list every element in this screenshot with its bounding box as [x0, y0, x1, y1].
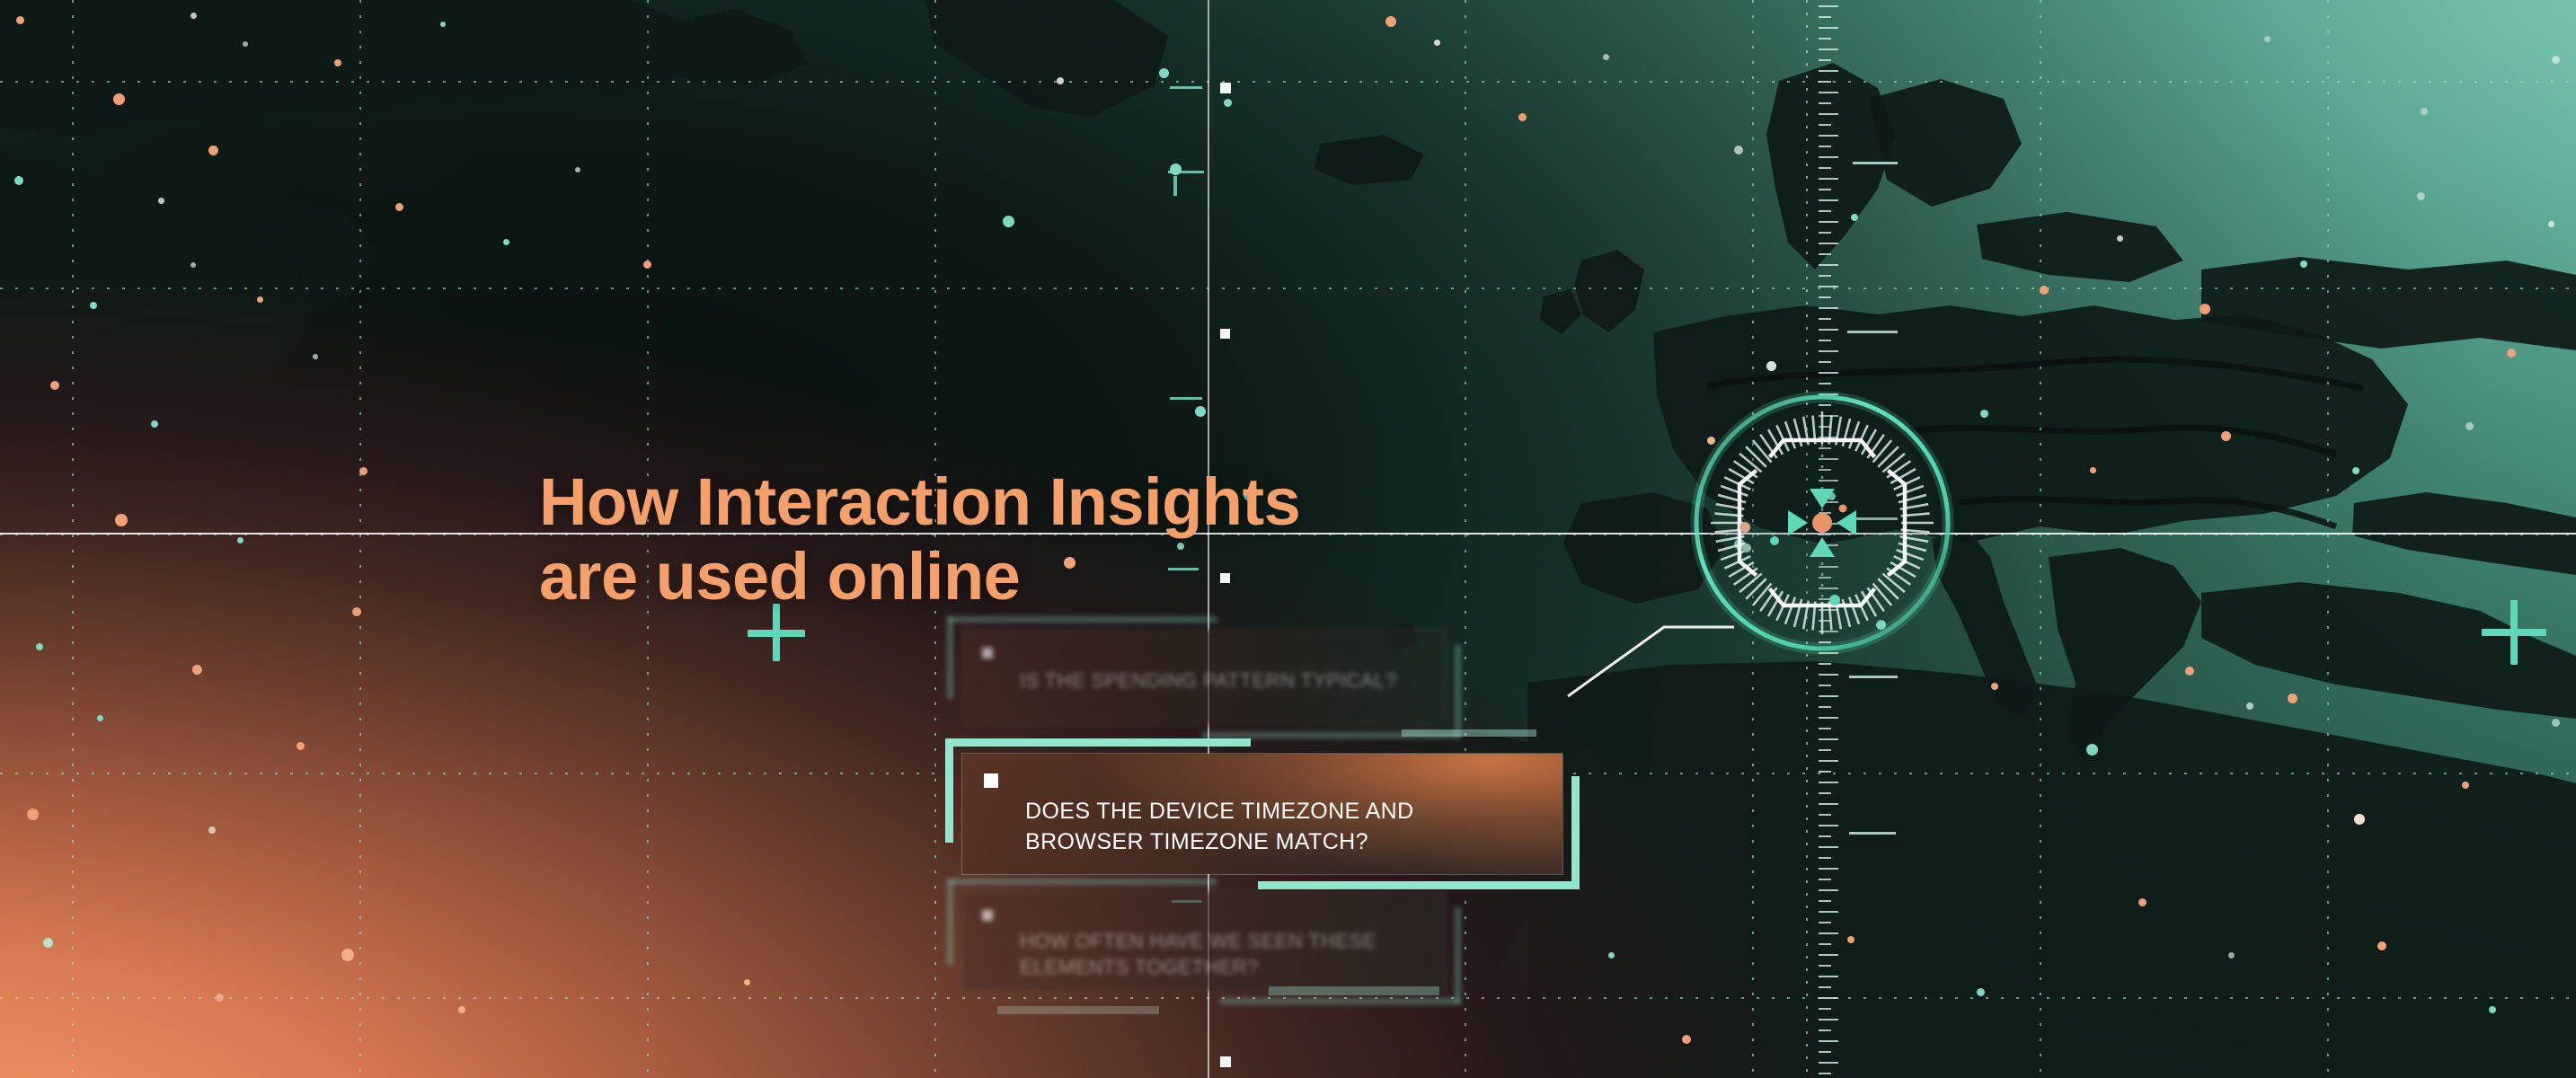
scan-marker-square: [1220, 329, 1230, 339]
card-bracket-right: [1455, 645, 1461, 738]
square-bullet: [984, 773, 998, 788]
card-surface: HOW OFTEN HAVE WE SEEN THESE ELEMENTS TO…: [961, 891, 1447, 992]
card-bracket-top-left: [947, 879, 1217, 885]
card-elements-together[interactable]: HOW OFTEN HAVE WE SEEN THESE ELEMENTS TO…: [961, 891, 1447, 992]
card-spending-pattern[interactable]: IS THE SPENDING PATTERN TYPICAL?: [961, 629, 1447, 726]
card-bracket-left: [947, 616, 953, 699]
card-bracket-bottom-right: [1220, 998, 1461, 1004]
hud-dash-accent: [1269, 986, 1439, 995]
hud-dash-accent: [997, 1006, 1159, 1014]
scan-marker-square: [1220, 83, 1231, 93]
scan-marker-square: [1220, 1056, 1231, 1067]
card-label: IS THE SPENDING PATTERN TYPICAL?: [1020, 667, 1424, 694]
page-title: How Interaction Insights are used online: [539, 465, 1300, 614]
card-bracket-left: [945, 738, 953, 843]
crosshair-right: [2482, 600, 2546, 665]
card-surface: IS THE SPENDING PATTERN TYPICAL?: [961, 629, 1447, 726]
square-bullet: [982, 648, 993, 658]
card-bracket-bottom-right: [1258, 881, 1580, 889]
screen-root: How Interaction Insights are used online…: [0, 0, 2576, 1078]
card-bracket-top-left: [945, 738, 1251, 747]
card-timezone-match[interactable]: DOES THE DEVICE TIMEZONE AND BROWSER TIM…: [961, 753, 1563, 875]
card-surface: DOES THE DEVICE TIMEZONE AND BROWSER TIM…: [961, 753, 1563, 875]
radar-reticle[interactable]: [1687, 388, 1957, 658]
card-label: HOW OFTEN HAVE WE SEEN THESE ELEMENTS TO…: [1020, 928, 1424, 981]
card-bracket-top-left: [947, 616, 1217, 623]
card-bracket-right: [1571, 776, 1580, 889]
square-bullet: [982, 910, 993, 921]
card-bracket-left: [947, 879, 953, 965]
card-label: DOES THE DEVICE TIMEZONE AND BROWSER TIM…: [1025, 797, 1537, 857]
hud-dash-accent: [1402, 729, 1536, 737]
card-bracket-right: [1455, 907, 1461, 1004]
